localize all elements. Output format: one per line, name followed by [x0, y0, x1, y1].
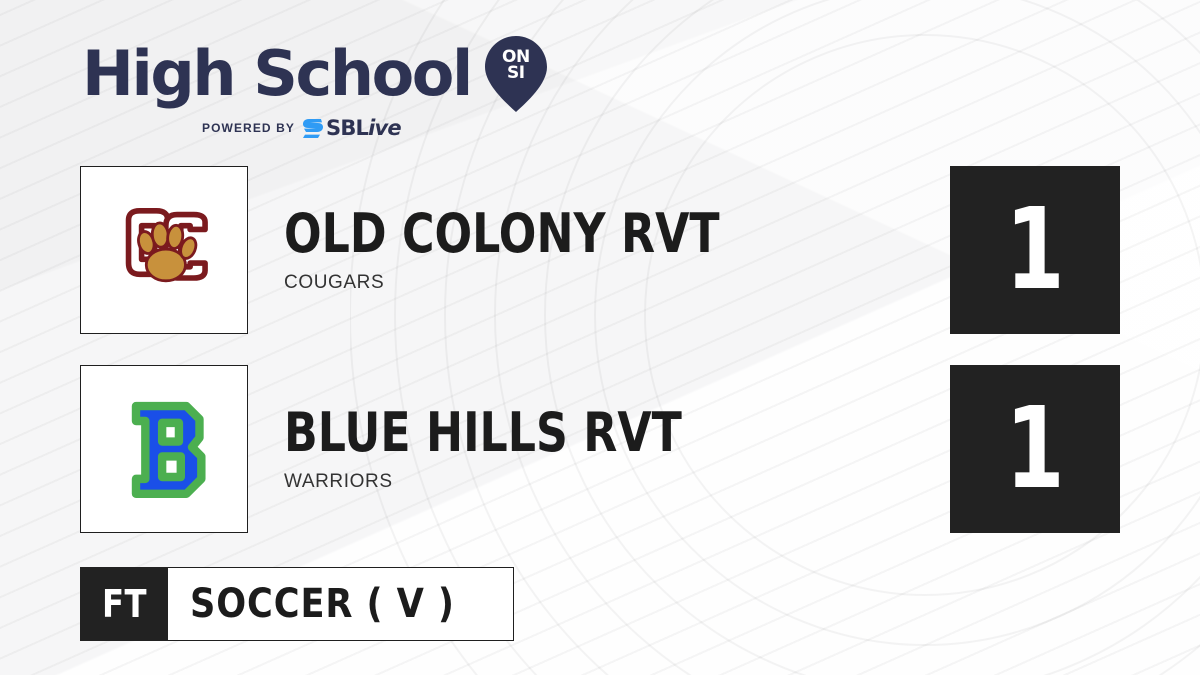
team-name: BLUE HILLS RVT	[284, 405, 682, 460]
team-name: OLD COLONY RVT	[284, 206, 720, 261]
brand-header: High School ON SI POWERED BY SBLive	[82, 36, 547, 140]
sblive-word-italic: ive	[368, 116, 401, 140]
powered-by-label: POWERED BY	[202, 121, 295, 135]
team-score-box: 1	[950, 166, 1120, 334]
team-logo-old-colony	[80, 166, 248, 334]
sport-label: SOCCER ( V )	[190, 581, 455, 627]
team-info: OLD COLONY RVT COUGARS	[284, 206, 815, 293]
status-badge: FT	[80, 567, 168, 641]
team-score: 1	[1005, 194, 1064, 306]
brand-logo-row: High School ON SI	[82, 36, 547, 112]
status-bar: FT SOCCER ( V )	[80, 567, 514, 641]
badge-line-si: SI	[485, 65, 547, 81]
scoreboard-graphic: High School ON SI POWERED BY SBLive	[0, 0, 1200, 675]
page-title: High School	[82, 45, 471, 104]
team-mascot: COUGARS	[284, 272, 815, 294]
status-period-label: FT	[102, 582, 147, 626]
team-score: 1	[1005, 393, 1064, 505]
team-mascot: WARRIORS	[284, 471, 769, 493]
blue-hills-b-logo-icon	[108, 393, 220, 505]
sport-label-panel: SOCCER ( V )	[168, 567, 514, 641]
team-info: BLUE HILLS RVT WARRIORS	[284, 405, 769, 492]
sblive-bolt-icon	[303, 119, 323, 138]
powered-by-row: POWERED BY SBLive	[202, 116, 401, 140]
sblive-wordmark: SBLive	[326, 116, 401, 140]
old-colony-oc-paw-logo-icon	[108, 194, 220, 306]
team-score-box: 1	[950, 365, 1120, 533]
team-logo-blue-hills	[80, 365, 248, 533]
on-si-pin-icon: ON SI	[485, 36, 547, 112]
sblive-logo: SBLive	[303, 116, 401, 140]
sblive-word-main: SBL	[326, 116, 368, 140]
on-si-badge-text: ON SI	[485, 49, 547, 81]
